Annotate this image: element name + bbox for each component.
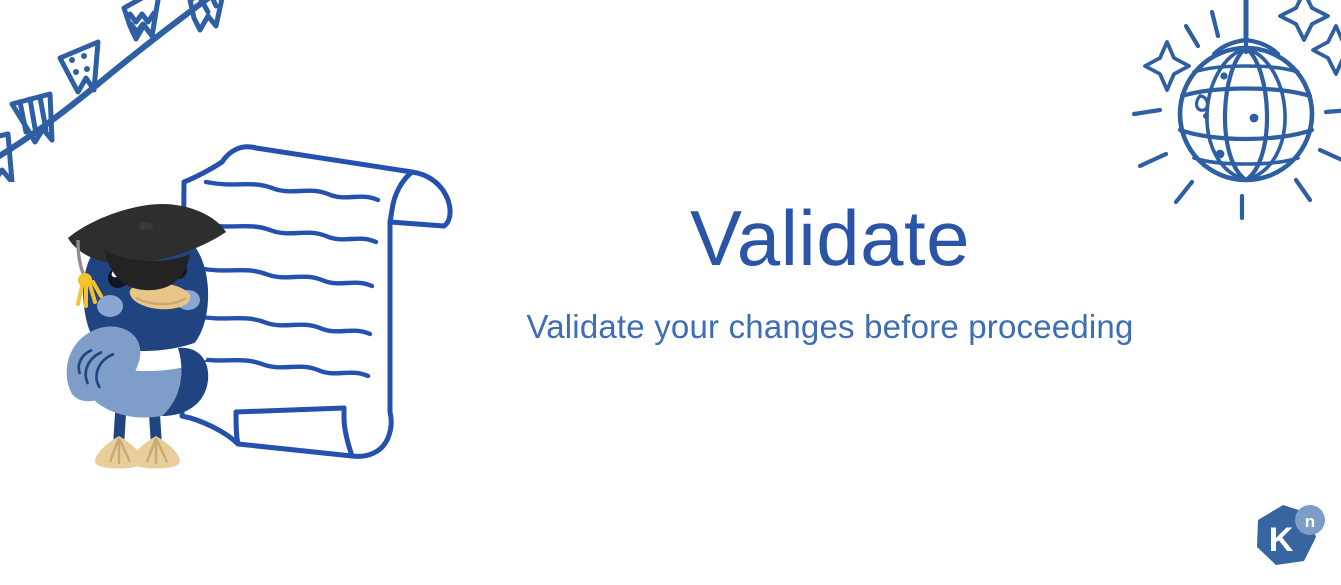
page-title: Validate xyxy=(470,196,1190,280)
logo-mark-letter: K xyxy=(1269,521,1294,559)
bunting-icon xyxy=(0,0,234,182)
slide-canvas: Validate Validate your changes before pr… xyxy=(0,0,1341,585)
graduate-bird-icon xyxy=(58,188,238,473)
slide-text-block: Validate Validate your changes before pr… xyxy=(470,196,1190,349)
page-subtitle: Validate your changes before proceeding xyxy=(470,306,1190,349)
brand-logo: K n xyxy=(1252,503,1328,575)
logo-badge-letter: n xyxy=(1305,512,1315,531)
scroll-icon xyxy=(176,126,476,466)
